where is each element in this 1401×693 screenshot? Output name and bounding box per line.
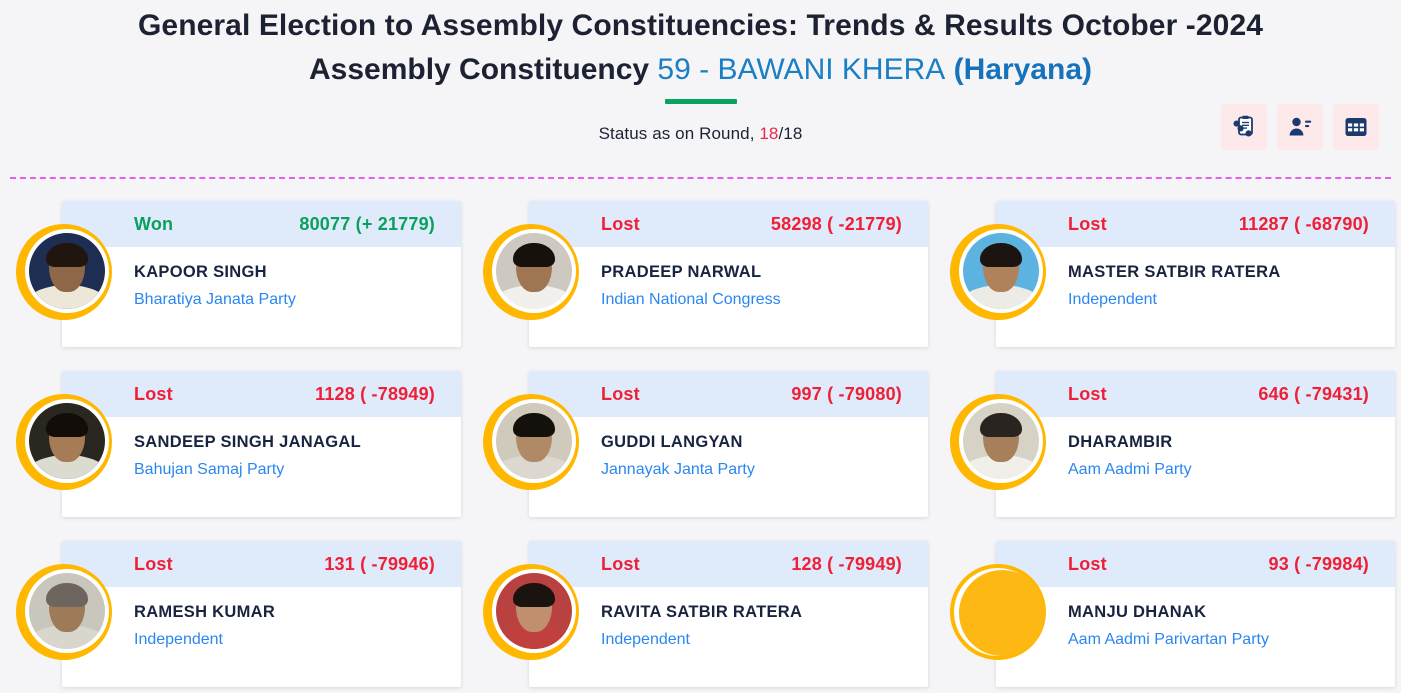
avatar-ring-inner: [959, 399, 1043, 483]
candidate-party[interactable]: Independent: [601, 629, 912, 651]
card-header: Lost 1128 ( -78949): [62, 371, 461, 417]
vote-count: 131 ( -79946): [324, 554, 435, 575]
candidate-name: KAPOOR SINGH: [134, 261, 445, 283]
candidate-card[interactable]: Won 80077 (+ 21779) KAPOOR SINGH Bharati…: [62, 201, 461, 347]
page-header: General Election to Assembly Constituenc…: [0, 0, 1401, 104]
result-status-badge: Won: [134, 214, 173, 235]
candidate-photo: [963, 403, 1039, 479]
candidate-name: GUDDI LANGYAN: [601, 431, 912, 453]
clipboard-report-icon: [1231, 114, 1257, 140]
candidate-name: MANJU DHANAK: [1068, 601, 1379, 623]
card-body: DHARAMBIR Aam Aadmi Party: [996, 417, 1395, 481]
card-header: Lost 997 ( -79080): [529, 371, 928, 417]
candidate-card-cell: Lost 128 ( -79949) RAVITA SATBIR RATERA …: [467, 541, 934, 693]
candidate-name: SANDEEP SINGH JANAGAL: [134, 431, 445, 453]
avatar[interactable]: [483, 224, 579, 320]
candidate-card-cell: Lost 1128 ( -78949) SANDEEP SINGH JANAGA…: [0, 371, 467, 523]
current-round: 18: [759, 124, 778, 143]
candidate-card-cell: Lost 58298 ( -21779) PRADEEP NARWAL Indi…: [467, 201, 934, 353]
candidate-card[interactable]: Lost 93 ( -79984) MANJU DHANAK Aam Aadmi…: [996, 541, 1395, 687]
candidate-list-icon-button[interactable]: [1277, 104, 1323, 150]
candidate-photo: [496, 233, 572, 309]
avatar[interactable]: [16, 564, 112, 660]
vote-count: 80077 (+ 21779): [299, 214, 435, 235]
candidate-party[interactable]: Indian National Congress: [601, 289, 912, 311]
grid-table-icon-button[interactable]: [1333, 104, 1379, 150]
candidate-photo: [496, 403, 572, 479]
candidate-card[interactable]: Lost 128 ( -79949) RAVITA SATBIR RATERA …: [529, 541, 928, 687]
candidate-photo: [29, 403, 105, 479]
candidate-photo: [29, 573, 105, 649]
avatar[interactable]: [16, 224, 112, 320]
status-round-text: Status as on Round, 18/18: [0, 124, 1401, 144]
state-name: (Haryana): [954, 53, 1092, 86]
result-status-badge: Lost: [601, 554, 640, 575]
card-body: RAMESH KUMAR Independent: [62, 587, 461, 651]
candidate-party[interactable]: Aam Aadmi Parivartan Party: [1068, 629, 1379, 651]
avatar[interactable]: [483, 394, 579, 490]
total-rounds: 18: [783, 124, 802, 143]
card-header: Won 80077 (+ 21779): [62, 201, 461, 247]
card-header: Lost 131 ( -79946): [62, 541, 461, 587]
candidate-card[interactable]: Lost 58298 ( -21779) PRADEEP NARWAL Indi…: [529, 201, 928, 347]
avatar-ring-inner: [959, 229, 1043, 313]
result-status-badge: Lost: [1068, 214, 1107, 235]
card-header: Lost 58298 ( -21779): [529, 201, 928, 247]
candidate-card-cell: Lost 997 ( -79080) GUDDI LANGYAN Jannaya…: [467, 371, 934, 523]
candidate-name: PRADEEP NARWAL: [601, 261, 912, 283]
candidate-grid: Won 80077 (+ 21779) KAPOOR SINGH Bharati…: [0, 179, 1401, 693]
vote-count: 1128 ( -78949): [315, 384, 435, 405]
candidate-photo: [29, 233, 105, 309]
avatar-ring-inner: [25, 229, 109, 313]
avatar-ring-inner: [25, 399, 109, 483]
candidate-party[interactable]: Aam Aadmi Party: [1068, 459, 1379, 481]
candidate-card-cell: Lost 93 ( -79984) MANJU DHANAK Aam Aadmi…: [934, 541, 1401, 693]
avatar[interactable]: [950, 394, 1046, 490]
candidate-card-cell: Won 80077 (+ 21779) KAPOOR SINGH Bharati…: [0, 201, 467, 353]
avatar[interactable]: [950, 224, 1046, 320]
card-body: RAVITA SATBIR RATERA Independent: [529, 587, 928, 651]
vote-count: 93 ( -79984): [1269, 554, 1369, 575]
clipboard-report-icon-button[interactable]: [1221, 104, 1267, 150]
candidate-photo: [963, 233, 1039, 309]
avatar-ring-inner: [492, 569, 576, 653]
avatar[interactable]: [16, 394, 112, 490]
vote-count: 128 ( -79949): [791, 554, 902, 575]
candidate-card[interactable]: Lost 11287 ( -68790) MASTER SATBIR RATER…: [996, 201, 1395, 347]
card-body: MANJU DHANAK Aam Aadmi Parivartan Party: [996, 587, 1395, 651]
card-header: Lost 93 ( -79984): [996, 541, 1395, 587]
candidate-card-cell: Lost 131 ( -79946) RAMESH KUMAR Independ…: [0, 541, 467, 693]
result-status-badge: Lost: [134, 384, 173, 405]
avatar[interactable]: [950, 564, 1046, 660]
candidate-list-icon: [1287, 114, 1313, 140]
card-body: KAPOOR SINGH Bharatiya Janata Party: [62, 247, 461, 311]
candidate-card[interactable]: Lost 131 ( -79946) RAMESH KUMAR Independ…: [62, 541, 461, 687]
result-status-badge: Lost: [134, 554, 173, 575]
page-title: General Election to Assembly Constituenc…: [0, 4, 1401, 48]
result-status-badge: Lost: [601, 214, 640, 235]
candidate-name: RAMESH KUMAR: [134, 601, 445, 623]
result-status-badge: Lost: [601, 384, 640, 405]
vote-count: 11287 ( -68790): [1239, 214, 1369, 235]
grid-table-icon: [1343, 114, 1369, 140]
avatar-ring-inner: [492, 399, 576, 483]
card-body: SANDEEP SINGH JANAGAL Bahujan Samaj Part…: [62, 417, 461, 481]
card-header: Lost 11287 ( -68790): [996, 201, 1395, 247]
card-body: MASTER SATBIR RATERA Independent: [996, 247, 1395, 311]
vote-count: 997 ( -79080): [791, 384, 902, 405]
status-bar: Status as on Round, 18/18: [0, 104, 1401, 166]
candidate-name: DHARAMBIR: [1068, 431, 1379, 453]
candidate-card-cell: Lost 11287 ( -68790) MASTER SATBIR RATER…: [934, 201, 1401, 353]
avatar-ring-inner: [25, 569, 109, 653]
status-prefix: Status as on Round,: [599, 124, 760, 143]
candidate-party[interactable]: Independent: [134, 629, 445, 651]
candidate-party[interactable]: Bharatiya Janata Party: [134, 289, 445, 311]
card-header: Lost 128 ( -79949): [529, 541, 928, 587]
candidate-card[interactable]: Lost 1128 ( -78949) SANDEEP SINGH JANAGA…: [62, 371, 461, 517]
candidate-party[interactable]: Independent: [1068, 289, 1379, 311]
candidate-name: MASTER SATBIR RATERA: [1068, 261, 1379, 283]
avatar-ring-inner: [492, 229, 576, 313]
avatar[interactable]: [483, 564, 579, 660]
card-header: Lost 646 ( -79431): [996, 371, 1395, 417]
candidate-party[interactable]: Bahujan Samaj Party: [134, 459, 445, 481]
candidate-name: RAVITA SATBIR RATERA: [601, 601, 912, 623]
constituency-label: Assembly Constituency: [309, 53, 657, 86]
candidate-card[interactable]: Lost 646 ( -79431) DHARAMBIR Aam Aadmi P…: [996, 371, 1395, 517]
constituency-title: Assembly Constituency 59 - BAWANI KHERA …: [0, 48, 1401, 92]
candidate-card[interactable]: Lost 997 ( -79080) GUDDI LANGYAN Jannaya…: [529, 371, 928, 517]
vote-count: 58298 ( -21779): [771, 214, 902, 235]
constituency-name: 59 - BAWANI KHERA: [657, 53, 945, 86]
candidate-photo: [496, 573, 572, 649]
result-status-badge: Lost: [1068, 384, 1107, 405]
vote-count: 646 ( -79431): [1258, 384, 1369, 405]
card-body: GUDDI LANGYAN Jannayak Janta Party: [529, 417, 928, 481]
candidate-card-cell: Lost 646 ( -79431) DHARAMBIR Aam Aadmi P…: [934, 371, 1401, 523]
toolbar-icons: [1221, 104, 1379, 150]
result-status-badge: Lost: [1068, 554, 1107, 575]
candidate-party[interactable]: Jannayak Janta Party: [601, 459, 912, 481]
card-body: PRADEEP NARWAL Indian National Congress: [529, 247, 928, 311]
avatar-ring-inner: [959, 569, 1043, 653]
